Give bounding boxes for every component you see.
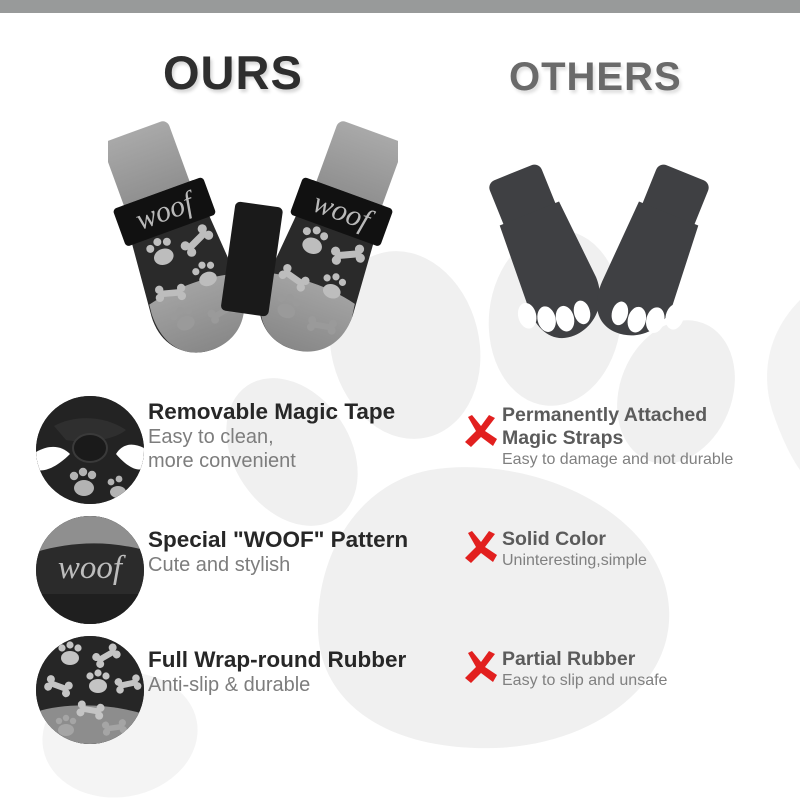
feature-sub-ours-line1: Easy to clean, [148,425,448,449]
feature-row: woof Special "WOOF" Pattern Cute and sty… [0,510,800,630]
comparison-infographic: OURS OTHERS woof [0,0,800,800]
feature-sub-ours-line1: Cute and stylish [148,553,448,577]
red-x-icon [461,648,501,688]
feature-sub-ours-line1: Anti-slip & durable [148,673,448,697]
feature-title-others-line2: Magic Straps [502,427,792,450]
feature-title-ours: Special "WOOF" Pattern [148,526,448,553]
feature-title-ours: Full Wrap-round Rubber [148,646,448,673]
feature-title-others-line1: Solid Color [502,528,792,551]
feature-text-ours: Removable Magic Tape Easy to clean, more… [148,398,448,473]
thumbnail-magic-tape [36,396,144,504]
thumbnail-full-wrap-rubber [36,636,144,744]
feature-sub-others: Easy to slip and unsafe [502,671,792,691]
thumbnail-woof-pattern: woof [36,516,144,624]
hero-image-others [488,158,713,363]
feature-title-others-line1: Permanently Attached [502,404,792,427]
feature-sub-others: Easy to damage and not durable [502,450,792,470]
red-x-icon [461,412,501,452]
red-x-icon [461,528,501,568]
feature-text-others: Permanently Attached Magic Straps Easy t… [502,404,792,470]
feature-row: Full Wrap-round Rubber Anti-slip & durab… [0,630,800,750]
top-border-band [0,0,800,13]
headings-row: OURS OTHERS [0,44,800,106]
feature-text-others: Solid Color Uninteresting,simple [502,528,792,571]
feature-comparison-list: Removable Magic Tape Easy to clean, more… [0,390,800,750]
heading-others: OTHERS [509,48,682,106]
feature-sub-ours-line2: more convenient [148,449,448,473]
feature-title-ours: Removable Magic Tape [148,398,448,425]
feature-text-others: Partial Rubber Easy to slip and unsafe [502,648,792,691]
feature-sub-others: Uninteresting,simple [502,551,792,571]
hero-image-ours: woof [108,108,398,383]
feature-row: Removable Magic Tape Easy to clean, more… [0,390,800,510]
svg-text:woof: woof [58,550,126,586]
feature-text-ours: Full Wrap-round Rubber Anti-slip & durab… [148,646,448,697]
heading-ours: OURS [163,44,303,102]
feature-text-ours: Special "WOOF" Pattern Cute and stylish [148,526,448,577]
feature-title-others-line1: Partial Rubber [502,648,792,671]
